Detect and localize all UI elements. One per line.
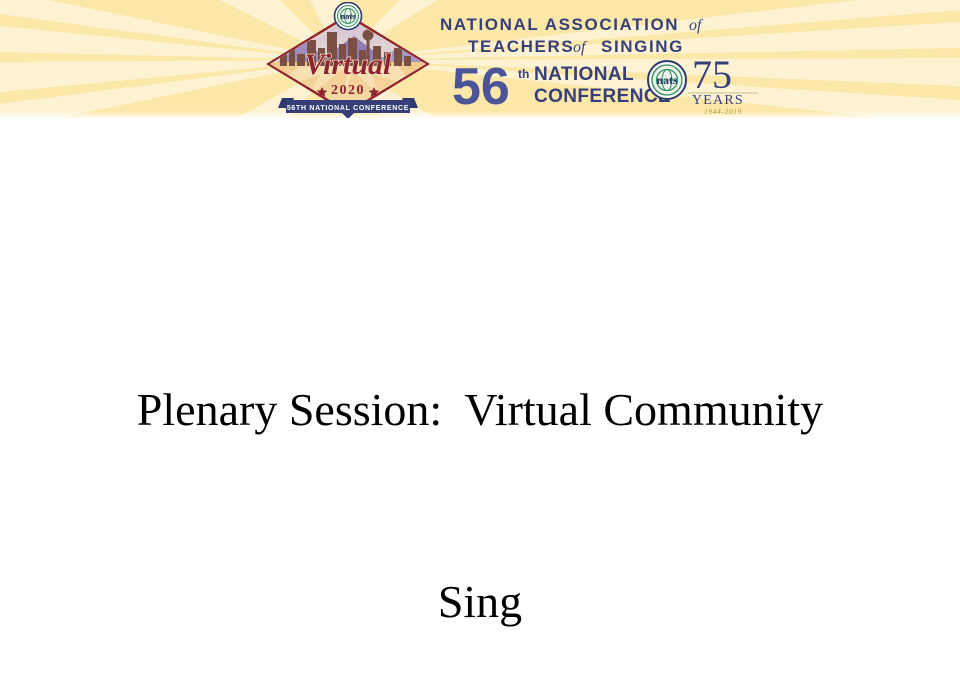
logo-ribbon: 56TH NATIONAL CONFERENCE bbox=[278, 98, 418, 118]
anniversary-label: YEARS bbox=[692, 93, 744, 108]
nats-seal-icon: nats bbox=[335, 3, 362, 30]
anniversary-number: 75 bbox=[692, 56, 732, 97]
logo-year: 2020 bbox=[331, 83, 365, 98]
logo-script-word: Virtual bbox=[305, 48, 392, 81]
wordmark-line2-teachers: TEACHERS bbox=[468, 37, 574, 56]
slide-title-line-1: Plenary Session: Virtual Community bbox=[60, 378, 900, 442]
nats-seal-label: nats bbox=[340, 11, 356, 21]
virtual-2020-diamond-logo: Virtual 2020 56TH NATIONAL CONFERENCE na… bbox=[258, 2, 438, 118]
anniversary-seal-label: nats bbox=[656, 73, 678, 87]
nats-wordmark: NATIONAL ASSOCIATION of TEACHERS of SING… bbox=[440, 12, 740, 58]
slide-title-line-2: Sing bbox=[60, 570, 900, 634]
logo-ribbon-text: 56TH NATIONAL CONFERENCE bbox=[287, 105, 409, 112]
anniversary-nats-seal-icon: nats bbox=[648, 61, 686, 99]
conference-line1: NATIONAL bbox=[534, 64, 634, 85]
conference-identity-row: 56 th NATIONAL CONFERENCE nats 75 YEARS … bbox=[452, 56, 762, 118]
anniversary-dates: 1944-2019 bbox=[704, 107, 742, 116]
wordmark-line1-text: NATIONAL ASSOCIATION bbox=[440, 15, 679, 34]
conference-ordinal: th bbox=[518, 67, 529, 81]
conference-banner: Virtual 2020 56TH NATIONAL CONFERENCE na… bbox=[0, 0, 960, 119]
wordmark-line2-of: of bbox=[573, 39, 588, 56]
conference-number: 56 bbox=[452, 58, 510, 116]
wordmark-line1-of: of bbox=[689, 17, 704, 34]
slide-title: Plenary Session: Virtual Community Sing bbox=[60, 250, 900, 698]
wordmark-line2-singing: SINGING bbox=[601, 37, 684, 56]
